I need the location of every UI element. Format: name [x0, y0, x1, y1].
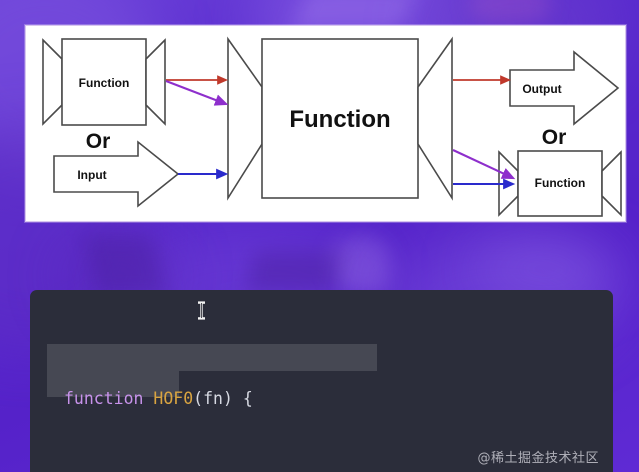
input-arrow-node: Input: [54, 142, 178, 206]
token-line1-tail: ) {: [223, 389, 253, 408]
center-left-funnel-shape: [228, 39, 262, 198]
output-function-right-wedge: [602, 152, 621, 215]
diagram-panel: Function Or Input Function: [25, 25, 626, 222]
center-input-funnel: [228, 39, 262, 198]
code-panel[interactable]: function HOF0(fn) { return function(...a…: [30, 290, 613, 472]
right-or-label: Or: [542, 126, 567, 149]
input-arrow-shape: [54, 142, 178, 206]
output-arrow-node: Output: [510, 52, 618, 124]
code-line-1[interactable]: function HOF0(fn) {: [30, 385, 613, 412]
token-param-fn: fn: [203, 389, 223, 408]
center-function-label: Function: [289, 106, 390, 133]
center-function-node: Function: [262, 39, 418, 198]
center-right-funnel-shape: [418, 39, 452, 198]
center-output-funnel: [418, 39, 452, 198]
watermark-text: @稀土掘金技术社区: [477, 447, 599, 466]
token-function-name-hof0: HOF0: [153, 389, 193, 408]
input-function-label: Function: [79, 76, 130, 90]
left-or-label: Or: [86, 130, 111, 153]
hof-diagram: Function Or Input Function: [26, 26, 625, 221]
token-space: [143, 389, 153, 408]
input-function-left-wedge: [43, 40, 62, 124]
input-function-node: Function: [43, 39, 165, 125]
token-keyword-function: function: [64, 389, 143, 408]
token-open-paren: (: [193, 389, 203, 408]
input-arrow-label: Input: [77, 168, 106, 182]
output-function-label: Function: [535, 176, 586, 190]
output-arrow-label: Output: [522, 82, 561, 96]
input-function-right-wedge: [146, 40, 165, 124]
slide-canvas: Function Or Input Function: [0, 0, 639, 472]
output-function-node: Function: [499, 151, 621, 216]
connector-function-to-center-purple: [166, 81, 226, 104]
